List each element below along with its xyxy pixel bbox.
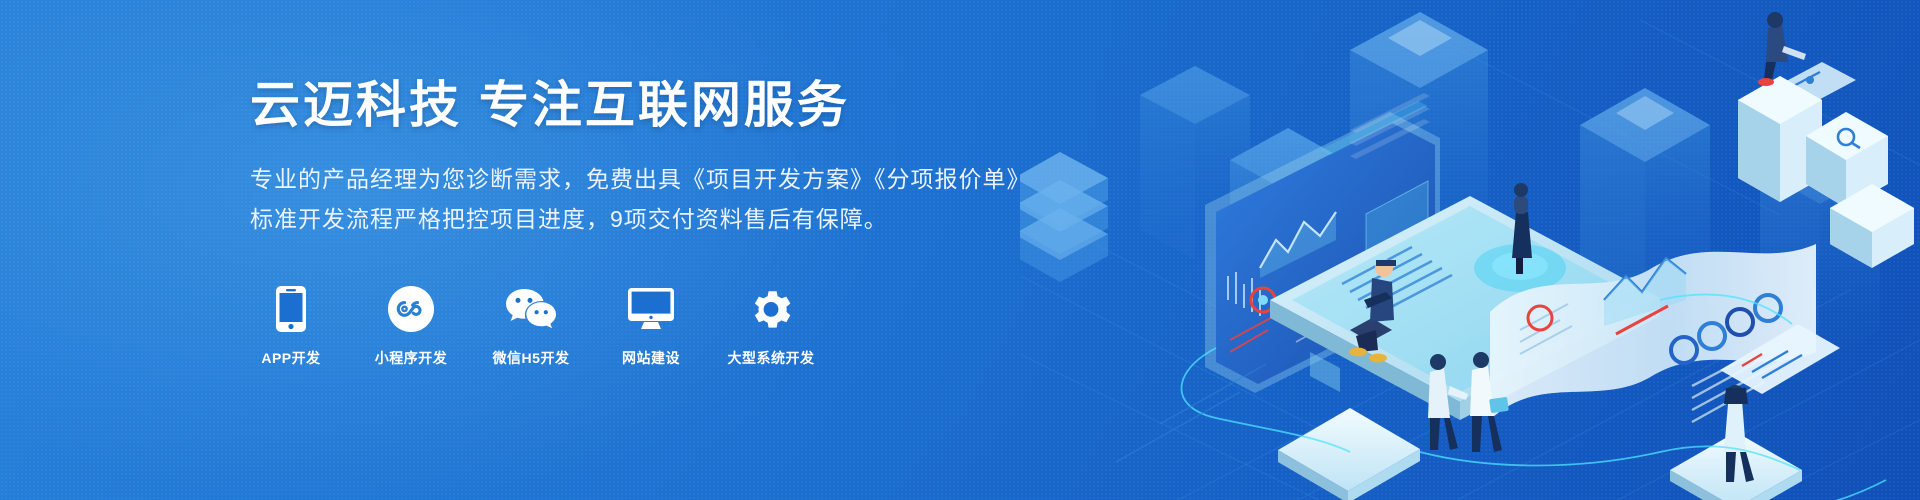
server-stack — [1020, 152, 1108, 282]
service-item-website[interactable]: 网站建设 — [612, 286, 690, 368]
gear-icon — [748, 286, 794, 332]
service-list: APP开发 小程序开发 — [252, 286, 810, 368]
service-item-mini-program[interactable]: 小程序开发 — [372, 286, 450, 368]
service-label: 大型系统开发 — [728, 348, 815, 368]
wechat-icon — [505, 286, 557, 332]
monitor-icon — [628, 286, 674, 332]
service-label: 网站建设 — [622, 348, 680, 368]
service-item-wechat-h5[interactable]: 微信H5开发 — [492, 286, 570, 368]
subtitle-line-2: 标准开发流程严格把控项目进度，9项交付资料售后有保障。 — [250, 199, 1150, 239]
service-label: 小程序开发 — [375, 348, 448, 368]
mini-program-icon — [388, 286, 434, 332]
banner-copy: 云迈科技 专注互联网服务 专业的产品经理为您诊断需求，免费出具《项目开发方案》《… — [250, 78, 1150, 239]
service-item-large-system[interactable]: 大型系统开发 — [732, 286, 810, 368]
floor-tile-left — [1278, 408, 1420, 500]
service-item-app[interactable]: APP开发 — [252, 286, 330, 368]
hero-illustration — [1020, 0, 1920, 500]
service-label: 微信H5开发 — [493, 348, 570, 368]
hero-banner: 云迈科技 专注互联网服务 专业的产品经理为您诊断需求，免费出具《项目开发方案》《… — [0, 0, 1920, 500]
service-label: APP开发 — [261, 348, 320, 368]
page-title: 云迈科技 专注互联网服务 — [250, 78, 1150, 133]
subtitle-line-1: 专业的产品经理为您诊断需求，免费出具《项目开发方案》《分项报价单》 — [250, 159, 1150, 199]
mobile-phone-icon — [276, 286, 306, 332]
